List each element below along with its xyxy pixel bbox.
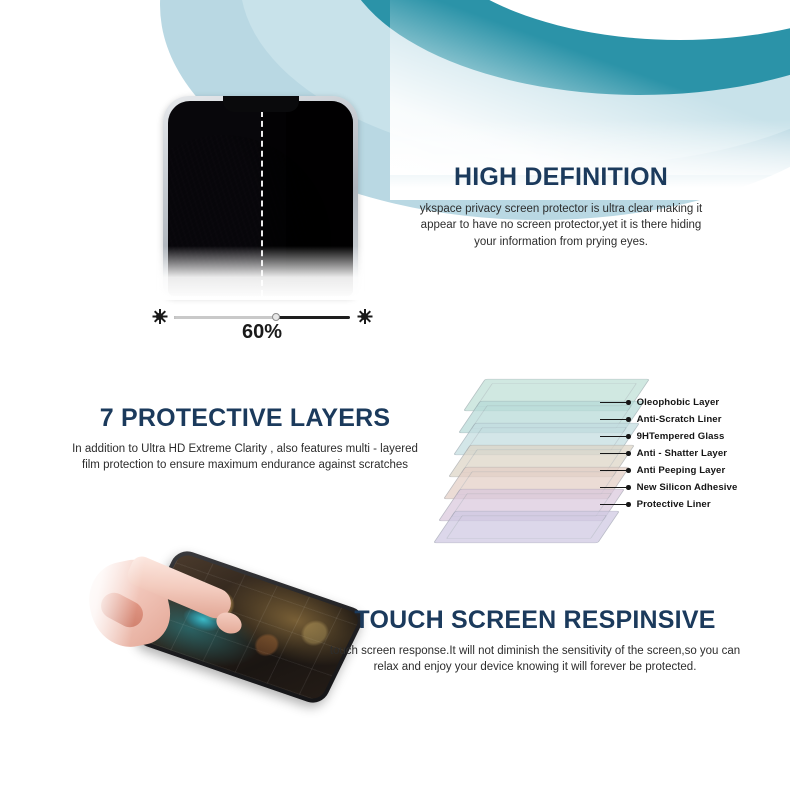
layer-callout-row: Anti - Shatter Layer	[600, 445, 785, 462]
layer-sheet-inner	[446, 515, 607, 539]
callout-leader-line	[600, 504, 626, 506]
brightness-slider[interactable]: 60%	[152, 305, 372, 345]
callout-leader-line	[600, 487, 626, 489]
high-definition-body: ykspace privacy screen protector is ultr…	[408, 201, 714, 251]
decorative-arc-core	[420, 0, 790, 40]
callout-label: Protective Liner	[637, 499, 711, 510]
layer-callout-row: Anti Peeping Layer	[600, 462, 785, 479]
callout-label: Oleophobic Layer	[637, 397, 720, 408]
high-definition-block: HIGH DEFINITION ykspace privacy screen p…	[408, 164, 714, 251]
callout-dot-icon	[626, 468, 631, 473]
touch-screen-body: touch screen response.It will not dimini…	[320, 643, 750, 676]
layer-callout-row: New Silicon Adhesive	[600, 479, 785, 496]
callout-leader-line	[600, 402, 626, 404]
callout-label: Anti Peeping Layer	[637, 465, 726, 476]
callout-leader-line	[600, 436, 626, 438]
layer-callout-row: Anti-Scratch Liner	[600, 411, 785, 428]
callout-dot-icon	[626, 400, 631, 405]
decorative-arc-fade	[390, 0, 790, 175]
layer-stack-illustration	[440, 358, 620, 533]
layer-sheet	[433, 511, 620, 543]
callout-dot-icon	[626, 485, 631, 490]
brightness-track[interactable]	[174, 316, 350, 319]
brightness-knob[interactable]	[272, 313, 280, 321]
callout-leader-line	[600, 470, 626, 472]
brightness-track-fill	[174, 316, 276, 319]
layer-callout-list: Oleophobic LayerAnti-Scratch Liner9HTemp…	[600, 394, 785, 513]
callout-dot-icon	[626, 451, 631, 456]
callout-label: Anti-Scratch Liner	[637, 414, 722, 425]
touch-screen-heading: TOUCH SCREEN RESPINSIVE	[320, 607, 750, 635]
hand-illustration	[88, 545, 238, 665]
callout-leader-line	[600, 453, 626, 455]
hand-fade	[78, 539, 170, 667]
privacy-phone-illustration	[163, 96, 358, 296]
touch-screen-block: TOUCH SCREEN RESPINSIVE touch screen res…	[320, 607, 750, 676]
callout-label: New Silicon Adhesive	[637, 482, 738, 493]
layer-callout-row: Protective Liner	[600, 496, 785, 513]
phone-bottom-fade	[157, 246, 364, 300]
infographic-poster: 60% HIGH DEFINITION ykspace privacy scre…	[0, 0, 790, 790]
protective-layers-heading: 7 PROTECTIVE LAYERS	[66, 405, 424, 433]
brightness-percent-label: 60%	[152, 321, 372, 344]
protective-layers-body: In addition to Ultra HD Extreme Clarity …	[66, 441, 424, 474]
decorative-arc-inner	[340, 0, 790, 95]
callout-dot-icon	[626, 434, 631, 439]
layer-callout-row: 9HTempered Glass	[600, 428, 785, 445]
high-definition-heading: HIGH DEFINITION	[408, 164, 714, 192]
phone-notch	[223, 96, 299, 112]
callout-dot-icon	[626, 502, 631, 507]
callout-label: 9HTempered Glass	[637, 431, 725, 442]
callout-label: Anti - Shatter Layer	[637, 448, 728, 459]
layer-callout-row: Oleophobic Layer	[600, 394, 785, 411]
protective-layers-block: 7 PROTECTIVE LAYERS In addition to Ultra…	[66, 405, 424, 474]
callout-leader-line	[600, 419, 626, 421]
callout-dot-icon	[626, 417, 631, 422]
